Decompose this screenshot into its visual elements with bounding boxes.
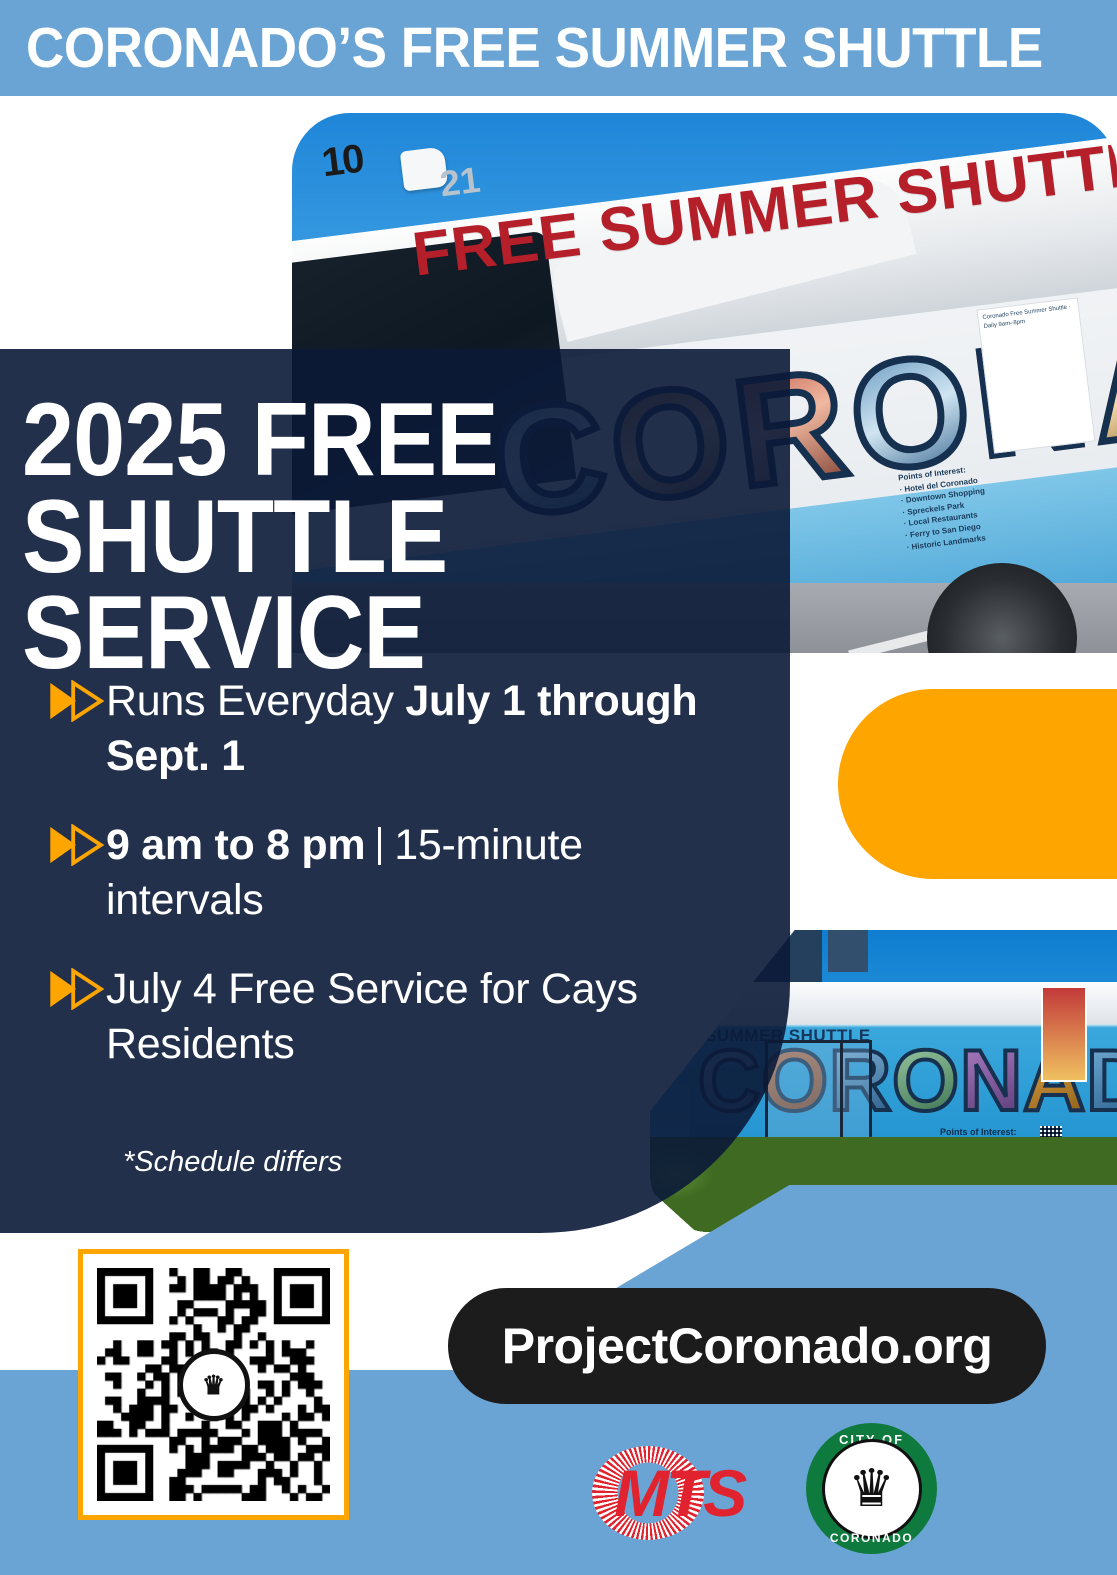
list-item: 9 am to 8 pm15-minute intervals [48,818,748,928]
header-banner: CORONADO’S FREE SUMMER SHUTTLE [0,0,1117,96]
double-chevron-right-icon [48,968,106,1015]
crown-icon: ♛ [202,1372,225,1398]
city-of-coronado-seal: CITY OF ♛ CORONADO [806,1423,937,1554]
seal-inner-circle: ♛ [822,1439,922,1539]
bus-side-info-panel: Coronado Free Summer Shuttle · Daily 9am… [977,297,1096,453]
info-panel: 2025 FREE SHUTTLE SERVICE Runs Everyday … [0,349,790,1233]
mts-logo: MTS [586,1438,772,1546]
page-title: CORONADO’S FREE SUMMER SHUTTLE [26,20,1043,77]
crown-icon: ♛ [848,1463,895,1515]
bus-fleet-number-secondary: 21 [438,159,483,206]
coronado-letter: N [960,1046,1022,1117]
seal-bottom-text: CORONADO [806,1531,937,1545]
bullet-plain-text: Runs Everyday [106,677,405,725]
bus-points-of-interest: Points of Interest: · Hotel del Coronado… [898,458,1027,553]
double-chevron-right-icon [48,680,106,727]
bullet-bold-text: 9 am to 8 pm [106,821,365,869]
schedule-note: *Schedule differs [123,1146,342,1179]
list-item-text: Runs Everyday July 1 through Sept. 1 [106,674,748,784]
hero-headline: 2025 FREE SHUTTLE SERVICE [22,392,713,682]
coronado-letter: O [892,1046,959,1117]
qr-center-logo: ♛ [178,1349,250,1421]
double-chevron-right-icon [48,824,106,871]
bus-fleet-number: 10 [319,137,365,187]
mts-logo-text: MTS [614,1460,744,1526]
qr-code-inner: ♛ [97,1268,330,1501]
list-item-text: 9 am to 8 pm15-minute intervals [106,818,748,928]
highlights-list: Runs Everyday July 1 through Sept. 1 9 a… [48,674,748,1106]
list-item-text: July 4 Free Service for Cays Residents [106,962,748,1072]
website-url-label: ProjectCoronado.org [502,1317,993,1375]
qr-code[interactable]: ♛ [78,1249,349,1520]
list-item: Runs Everyday July 1 through Sept. 1 [48,674,748,784]
orange-accent-shape [838,689,1117,879]
vertical-divider [378,827,381,865]
poster-root: CORONADO’S FREE SUMMER SHUTTLE 10 21 FRE… [0,0,1117,1575]
background-building [828,930,868,972]
bus-village-sign [1041,986,1087,1082]
coronado-letter: D [1086,1046,1117,1117]
website-button[interactable]: ProjectCoronado.org [448,1288,1046,1404]
list-item: July 4 Free Service for Cays Residents [48,962,748,1072]
